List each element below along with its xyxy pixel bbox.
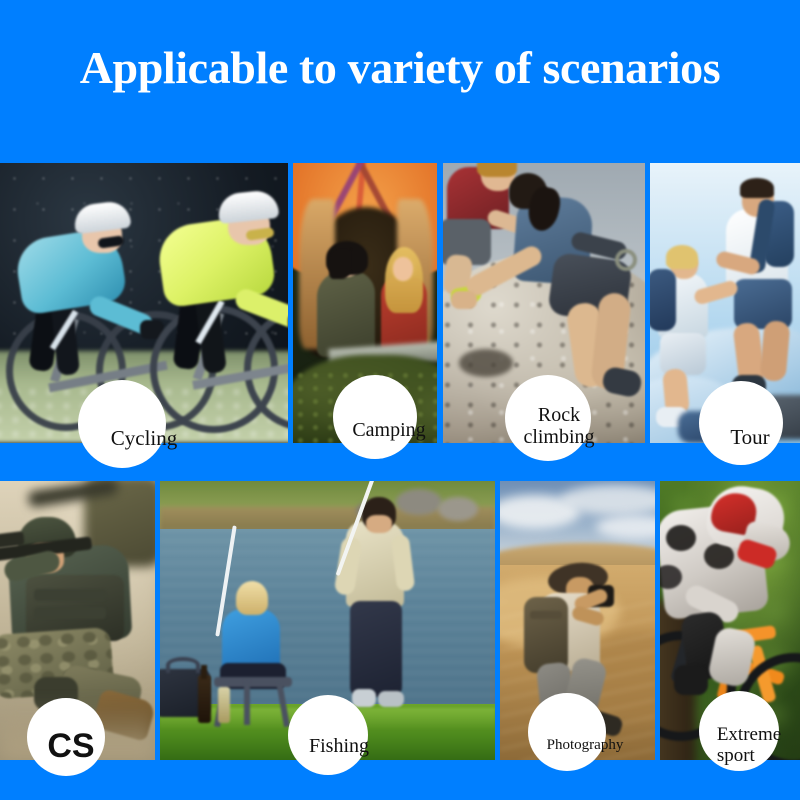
label-text-rock-climbing: Rock climbing	[523, 405, 594, 448]
label-badge-fishing: Fishing	[288, 695, 368, 775]
label-text-camping: Camping	[352, 420, 425, 442]
scenario-row-bottom	[0, 481, 800, 760]
label-text-photography: Photography	[547, 737, 624, 753]
label-badge-tour: Tour	[699, 381, 783, 465]
label-badge-camping: Camping	[333, 375, 417, 459]
label-text-fishing: Fishing	[309, 736, 369, 758]
label-badge-photography: Photography	[528, 693, 606, 771]
label-badge-rock-climbing: Rock climbing	[505, 375, 591, 461]
label-text-extreme-sport: Extreme sport	[717, 725, 781, 766]
page-header: Applicable to variety of scenarios	[0, 0, 800, 150]
label-text-cs: CS	[47, 728, 94, 765]
label-badge-extreme-sport: Extreme sport	[699, 691, 779, 771]
label-badge-cycling: Cycling	[78, 380, 166, 468]
label-badge-cs: CS	[27, 698, 105, 776]
page-title: Applicable to variety of scenarios	[80, 45, 721, 91]
label-text-tour: Tour	[730, 426, 769, 449]
label-text-cycling: Cycling	[111, 427, 178, 450]
